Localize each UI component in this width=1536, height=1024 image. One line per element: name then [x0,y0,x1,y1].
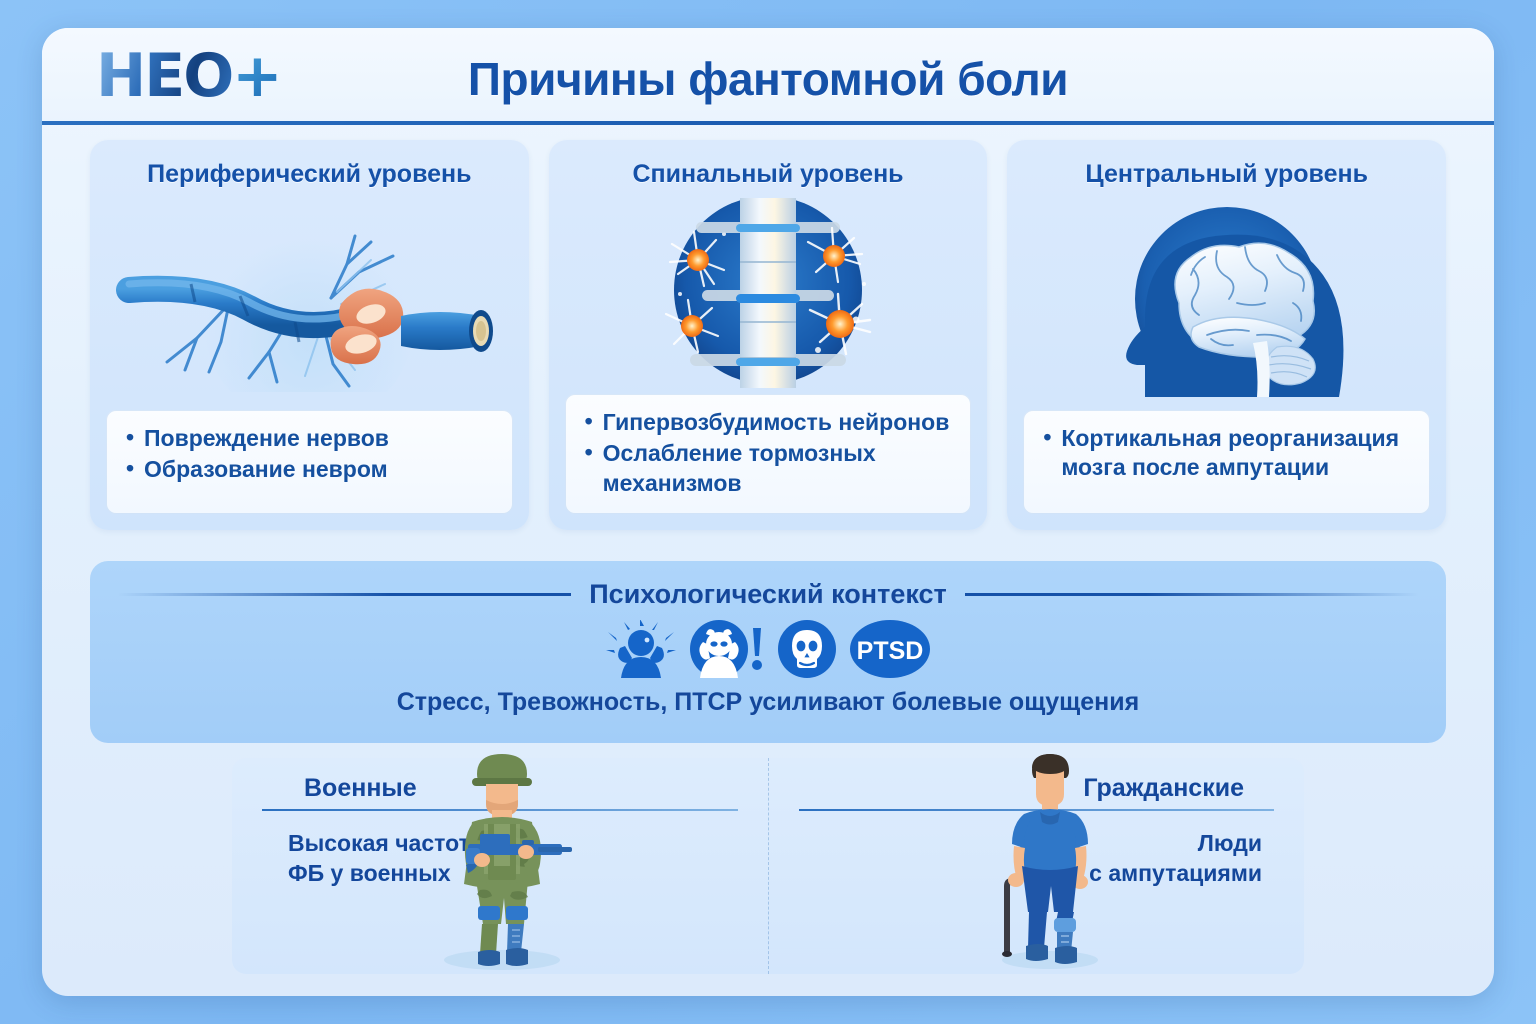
header-divider [42,121,1494,125]
list-item: Образование невром [122,455,497,484]
card-peripheral-level: Периферический уровень [90,140,529,530]
list-item: Ослабление тормозных механизмов [581,439,956,498]
spinal-cord-neurons-icon [565,193,972,394]
bullets-box-central: Кортикальная реорганизация мозга после а… [1023,410,1430,514]
poster-header: НЕО+ Причины фантомной боли [42,28,1494,124]
damaged-nerve-neuroma-icon [106,193,513,410]
psychological-context-panel: Психологический контекст [90,561,1446,743]
bullets-box-spinal: Гипервозбудимость нейронов Ослабление то… [565,394,972,514]
card-spinal-level: Спинальный уровень [549,140,988,530]
comparison-military: Военные Высокая частота ФБ у военных [232,758,768,974]
psych-icons-row: PTSD [118,618,1418,680]
skull-icon [778,620,836,678]
comparison-civilian: Гражданские Люди с ампутациями [768,758,1305,974]
psych-caption: Стресс, Тревожность, ПТСР усиливают боле… [118,688,1418,717]
card-title-spinal: Спинальный уровень [565,160,972,189]
list-item: Повреждение нервов [122,424,497,453]
levels-row: Периферический уровень [42,140,1494,530]
soldier-with-prosthesis-figure [422,748,582,970]
civilian-with-cane-prosthesis-figure [984,748,1114,970]
ptsd-badge-icon: PTSD [850,620,930,678]
psych-header: Психологический контекст [118,579,1418,610]
infographic-poster: НЕО+ Причины фантомной боли Периферическ… [42,28,1494,996]
psych-rule-left [118,593,571,596]
brain-head-icon [1023,193,1430,410]
bullets-box-peripheral: Повреждение нервов Образование невром [106,410,513,514]
psych-rule-right [965,593,1418,596]
anxiety-person-icon [690,620,764,678]
page-title: Причины фантомной боли [42,52,1494,106]
ptsd-label: PTSD [857,637,924,665]
card-central-level: Центральный уровень [1007,140,1446,530]
psych-title: Психологический контекст [589,579,946,610]
comparison-row: Военные Высокая частота ФБ у военных [232,758,1304,974]
list-item: Кортикальная реорганизация мозга после а… [1039,424,1414,483]
card-title-peripheral: Периферический уровень [106,160,513,189]
card-title-central: Центральный уровень [1023,160,1430,189]
list-item: Гипервозбудимость нейронов [581,408,956,437]
stress-person-icon [606,620,676,678]
